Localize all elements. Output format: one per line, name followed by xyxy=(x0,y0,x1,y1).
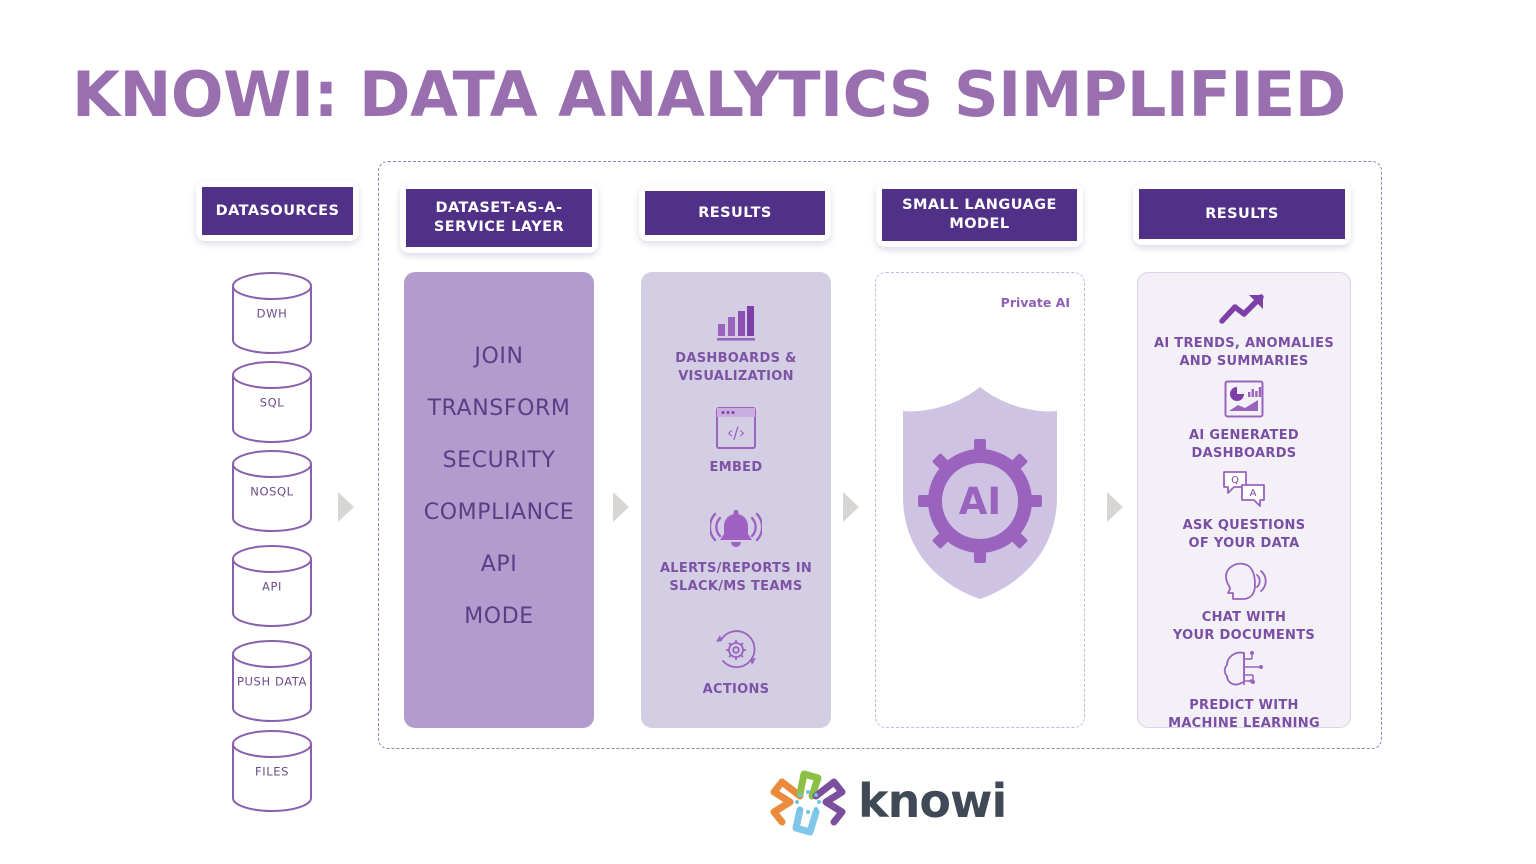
feature-dashboards-visualization: DASHBOARDS & VISUALIZATION xyxy=(641,302,831,385)
datasource-label: PUSH DATA xyxy=(230,675,314,689)
shield-ai-label: AI xyxy=(959,480,1001,523)
datasources-header-label: DATASOURCES xyxy=(202,187,353,235)
daas-capability-list: JOIN TRANSFORM SECURITY COMPLIANCE API M… xyxy=(404,344,594,629)
private-ai-badge: Private AI xyxy=(1001,295,1070,310)
feature-label: ALERTS/REPORTS IN SLACK/MS TEAMS xyxy=(660,560,812,595)
results2-panel: AI TRENDS, ANOMALIES AND SUMMARIES AI GE… xyxy=(1137,272,1351,728)
flow-arrow-2 xyxy=(613,492,629,522)
gear-orbit-icon xyxy=(713,627,759,673)
shield-icon: AI xyxy=(897,383,1063,603)
feature-ai-trends: AI TRENDS, ANOMALIES AND SUMMARIES xyxy=(1138,291,1350,370)
feature-label: EMBED xyxy=(710,459,763,477)
datasource-cylinder-sql: SQL xyxy=(230,361,314,443)
datasource-cylinder-push-data: PUSH DATA xyxy=(230,640,314,722)
feature-ask-questions: Q A ASK QUESTIONS OF YOUR DATA xyxy=(1138,469,1350,552)
feature-predict-ml: PREDICT WITH MACHINE LEARNING xyxy=(1138,649,1350,732)
talking-head-icon xyxy=(1221,559,1267,601)
slm-header-label: SMALL LANGUAGE MODEL xyxy=(882,189,1077,241)
svg-text:A: A xyxy=(1250,488,1257,499)
feature-embed: ‹/› EMBED xyxy=(641,405,831,477)
feature-label: AI TRENDS, ANOMALIES AND SUMMARIES xyxy=(1154,335,1334,370)
dashboard-icon xyxy=(1223,379,1265,419)
feature-label: CHAT WITH YOUR DOCUMENTS xyxy=(1173,609,1315,644)
trend-arrow-icon xyxy=(1218,291,1270,327)
datasource-label: SQL xyxy=(230,396,314,410)
svg-text:Q: Q xyxy=(1231,475,1239,486)
daas-item-compliance: COMPLIANCE xyxy=(424,500,574,525)
flow-arrow-4 xyxy=(1107,492,1123,522)
ai-shield-graphic: AI xyxy=(876,383,1084,603)
bell-icon xyxy=(710,508,762,552)
daas-header-label: DATASET-AS-A- SERVICE LAYER xyxy=(406,189,592,247)
ai-brain-icon xyxy=(1221,649,1267,689)
daas-item-join: JOIN xyxy=(474,344,523,369)
knowi-mark-icon xyxy=(770,766,846,836)
feature-ai-generated-dashboards: AI GENERATED DASHBOARDS xyxy=(1138,379,1350,462)
feature-label: ASK QUESTIONS OF YOUR DATA xyxy=(1183,517,1306,552)
ai-gear-icon: AI xyxy=(918,439,1042,563)
datasource-label: FILES xyxy=(230,765,314,779)
page-title: KNOWI: DATA ANALYTICS SIMPLIFIED xyxy=(72,58,1472,131)
datasource-label: API xyxy=(230,580,314,594)
slide-canvas: KNOWI: DATA ANALYTICS SIMPLIFIED DATASOU… xyxy=(0,0,1536,864)
datasource-label: DWH xyxy=(230,307,314,321)
daas-header-card: DATASET-AS-A- SERVICE LAYER xyxy=(400,183,598,253)
results2-header-label: RESULTS xyxy=(1139,189,1345,239)
feature-alerts-reports: ALERTS/REPORTS IN SLACK/MS TEAMS xyxy=(641,508,831,595)
results1-header-card: RESULTS xyxy=(639,185,831,241)
slm-header-card: SMALL LANGUAGE MODEL xyxy=(876,183,1083,247)
feature-actions: ACTIONS xyxy=(641,627,831,699)
daas-item-api: API xyxy=(481,552,518,577)
results2-header-card: RESULTS xyxy=(1133,183,1351,245)
datasources-header-card: DATASOURCES xyxy=(196,181,359,241)
knowi-logo: knowi xyxy=(770,766,1006,836)
daas-item-mode: MODE xyxy=(464,604,534,629)
knowi-wordmark: knowi xyxy=(858,774,1006,828)
flow-arrow-1 xyxy=(338,492,354,522)
daas-panel: JOIN TRANSFORM SECURITY COMPLIANCE API M… xyxy=(404,272,594,728)
slm-panel: Private AI xyxy=(875,272,1085,728)
results1-header-label: RESULTS xyxy=(645,191,825,235)
feature-label: ACTIONS xyxy=(703,681,770,699)
datasource-label: NOSQL xyxy=(230,485,314,499)
bar-chart-icon xyxy=(715,302,757,342)
feature-label: PREDICT WITH MACHINE LEARNING xyxy=(1168,697,1320,732)
code-window-icon: ‹/› xyxy=(714,405,758,451)
svg-text:‹/›: ‹/› xyxy=(727,423,745,442)
flow-arrow-3 xyxy=(843,492,859,522)
feature-chat-documents: CHAT WITH YOUR DOCUMENTS xyxy=(1138,559,1350,644)
qa-bubbles-icon: Q A xyxy=(1221,469,1267,509)
feature-label: AI GENERATED DASHBOARDS xyxy=(1189,427,1299,462)
daas-item-security: SECURITY xyxy=(443,448,556,473)
results1-panel: DASHBOARDS & VISUALIZATION ‹/› EMBED xyxy=(641,272,831,728)
datasource-cylinder-api: API xyxy=(230,545,314,627)
feature-label: DASHBOARDS & VISUALIZATION xyxy=(675,350,796,385)
datasource-cylinder-dwh: DWH xyxy=(230,272,314,354)
daas-item-transform: TRANSFORM xyxy=(428,396,571,421)
datasource-cylinder-files: FILES xyxy=(230,730,314,812)
datasource-cylinder-nosql: NOSQL xyxy=(230,450,314,532)
